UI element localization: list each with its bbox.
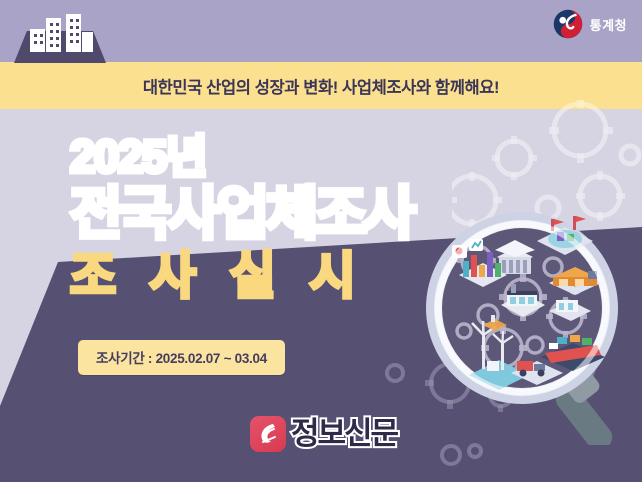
publisher-logo-label: 정보신문	[291, 417, 397, 451]
taegeuk-swirl-icon	[553, 9, 583, 39]
tagline: 대한민국 산업의 성장과 변화! 사업체조사와 함께해요!	[0, 62, 642, 109]
survey-period-badge: 조사기간 : 2025.02.07 ~ 03.04	[78, 340, 285, 375]
survey-promo-banner: 통계청 대한민국 산업의 성장과 변화! 사업체조사와 함께해요!	[0, 0, 642, 482]
headline-year: 2025년	[70, 132, 500, 182]
headline-title: 전국사업체조사	[70, 184, 500, 244]
headline-subtitle: 조 사 실 시	[70, 248, 500, 304]
office-buildings-icon	[24, 14, 96, 58]
brush-stroke-mark-icon	[250, 416, 286, 452]
publisher-logo[interactable]: 정보신문	[250, 416, 397, 452]
headline-block: 2025년 전국사업체조사 조 사 실 시	[70, 132, 500, 304]
agency-logo: 통계청	[553, 9, 627, 39]
agency-logo-label: 통계청	[590, 15, 627, 34]
